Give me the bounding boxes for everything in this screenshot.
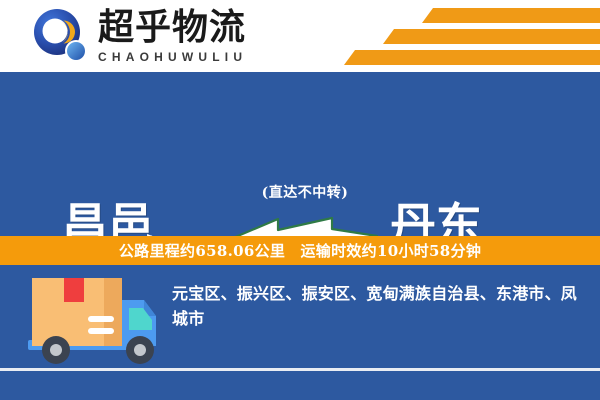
brand-name-cn: 超乎物流: [98, 7, 278, 47]
stripe-2: [383, 29, 600, 44]
distance-duration-bar: 公路里程约658.06公里 运输时效约10小时58分钟: [0, 236, 600, 265]
brand-block: 超乎物流 CHAOHUWULIU: [98, 7, 278, 65]
coverage-section: 元宝区、振兴区、振安区、宽甸满族自治县、东港市、凤城市: [0, 265, 600, 400]
logistics-route-banner: 超乎物流 CHAOHUWULIU 昌邑 丹东 (直达不中转) 【往返运输】 公路…: [0, 0, 600, 400]
delivery-truck-icon: [22, 272, 164, 368]
direct-route-note: (直达不中转): [230, 182, 380, 202]
ground-baseline: [0, 368, 600, 371]
stripe-3: [344, 50, 600, 65]
stripe-1: [422, 8, 600, 23]
distance-duration-text: 公路里程约658.06公里 运输时效约10小时58分钟: [119, 240, 481, 261]
route-section: 昌邑 丹东 (直达不中转) 【往返运输】: [0, 72, 600, 236]
banner-header: 超乎物流 CHAOHUWULIU: [0, 0, 600, 72]
circle-crescent-logo-icon: [32, 8, 90, 66]
brand-name-en: CHAOHUWULIU: [98, 49, 278, 65]
header-stripes-decoration: [338, 0, 600, 72]
coverage-areas-text: 元宝区、振兴区、振安区、宽甸满族自治县、东港市、凤城市: [172, 281, 584, 331]
